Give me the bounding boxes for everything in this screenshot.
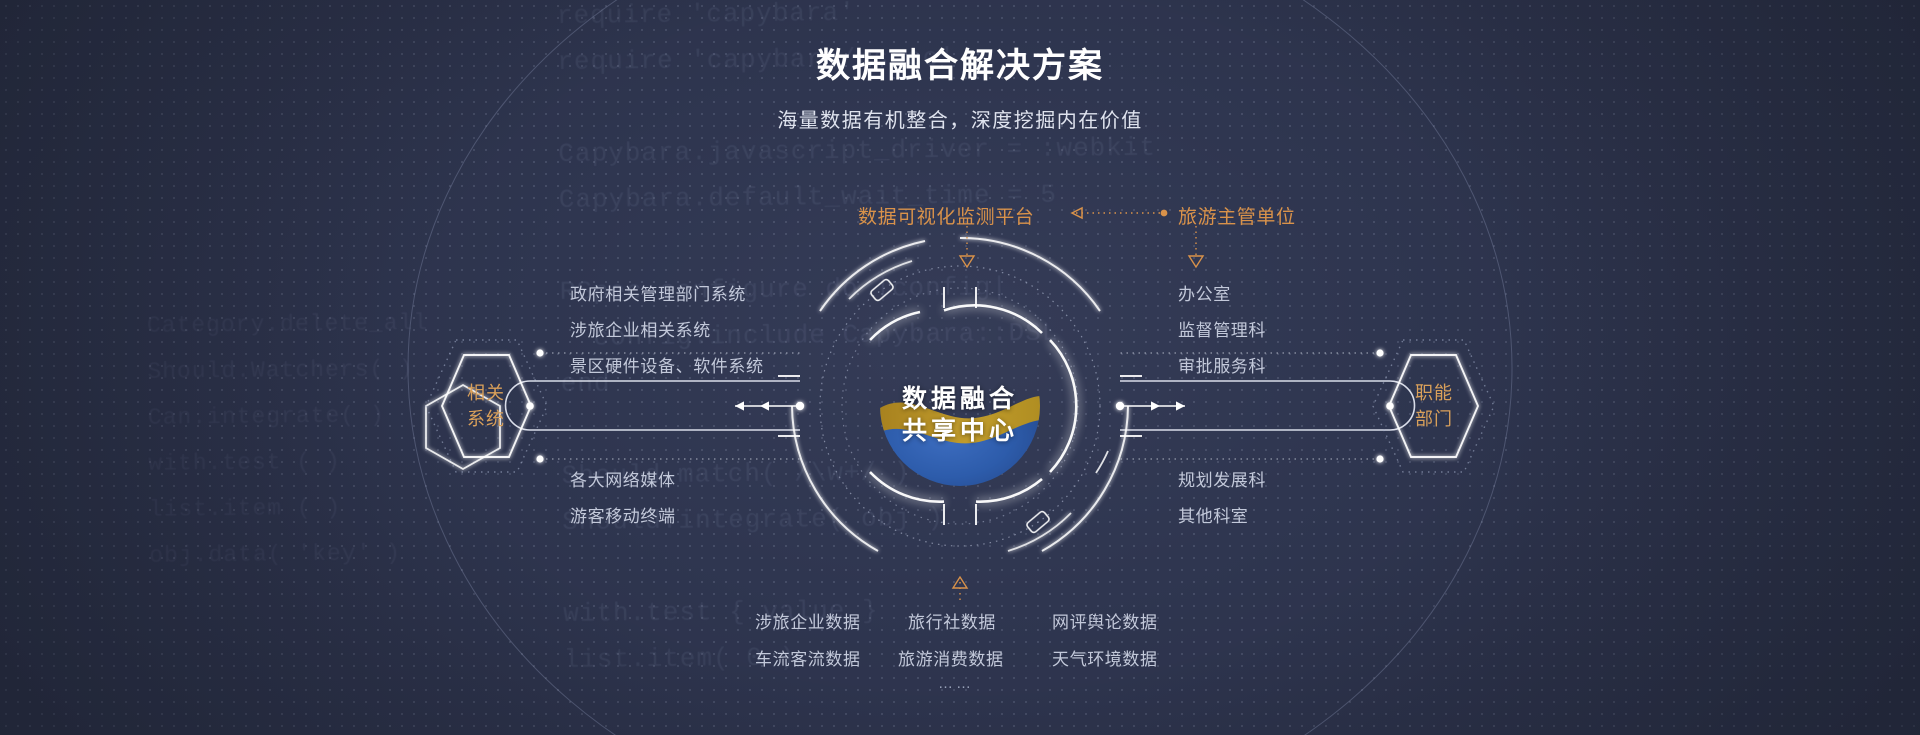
left-hex-line1: 相关 [426,380,546,406]
bottom-item-weather-environment-data[interactable]: 天气环境数据 [1052,645,1158,670]
bottom-ellipsis: …… [938,675,974,692]
right-item-supervision-dept[interactable]: 监督管理科 [1178,316,1266,341]
left-item-tourism-enterprise-systems[interactable]: 涉旅企业相关系统 [570,316,711,341]
right-item-approval-service-dept[interactable]: 审批服务科 [1178,352,1266,377]
right-hex-line1: 职能 [1374,380,1494,406]
bottom-item-travel-agency-data[interactable]: 旅行社数据 [908,608,996,633]
top-label-tourism-authority[interactable]: 旅游主管单位 [1178,202,1296,229]
top-label-visualization-platform[interactable]: 数据可视化监测平台 [858,202,1034,229]
page-title: 数据融合解决方案 [0,38,1920,87]
left-item-network-media[interactable]: 各大网络媒体 [570,466,676,491]
right-hex-line2: 部门 [1374,406,1494,432]
left-flow-arrows [735,401,800,410]
right-item-office[interactable]: 办公室 [1178,280,1231,305]
bottom-item-tourism-consumption-data[interactable]: 旅游消费数据 [898,645,1004,670]
left-hexagon-label[interactable]: 相关 系统 [426,380,546,432]
bottom-item-enterprise-data[interactable]: 涉旅企业数据 [755,608,861,633]
center-sphere [880,326,1040,500]
left-item-scenic-hardware-software[interactable]: 景区硬件设备、软件系统 [570,352,764,377]
bottom-item-traffic-flow-data[interactable]: 车流客流数据 [755,645,861,670]
top-flow-arrow [1072,208,1167,218]
right-item-planning-dev-dept[interactable]: 规划发展科 [1178,466,1266,491]
left-item-gov-systems[interactable]: 政府相关管理部门系统 [570,280,746,305]
left-item-tourist-mobile-terminal[interactable]: 游客移动终端 [570,502,676,527]
top-vertical-drops [960,226,1203,267]
bottom-item-online-review-data[interactable]: 网评舆论数据 [1052,608,1158,633]
bottom-vertical-arrow [953,577,967,600]
right-hexagon-label[interactable]: 职能 部门 [1374,380,1494,432]
header-block: 数据融合解决方案 海量数据有机整合，深度挖掘内在价值 [0,0,1920,133]
right-flow-arrows [1120,401,1185,410]
left-hex-line2: 系统 [426,406,546,432]
page-subtitle: 海量数据有机整合，深度挖掘内在价值 [0,104,1920,133]
right-item-other-offices[interactable]: 其他科室 [1178,502,1248,527]
